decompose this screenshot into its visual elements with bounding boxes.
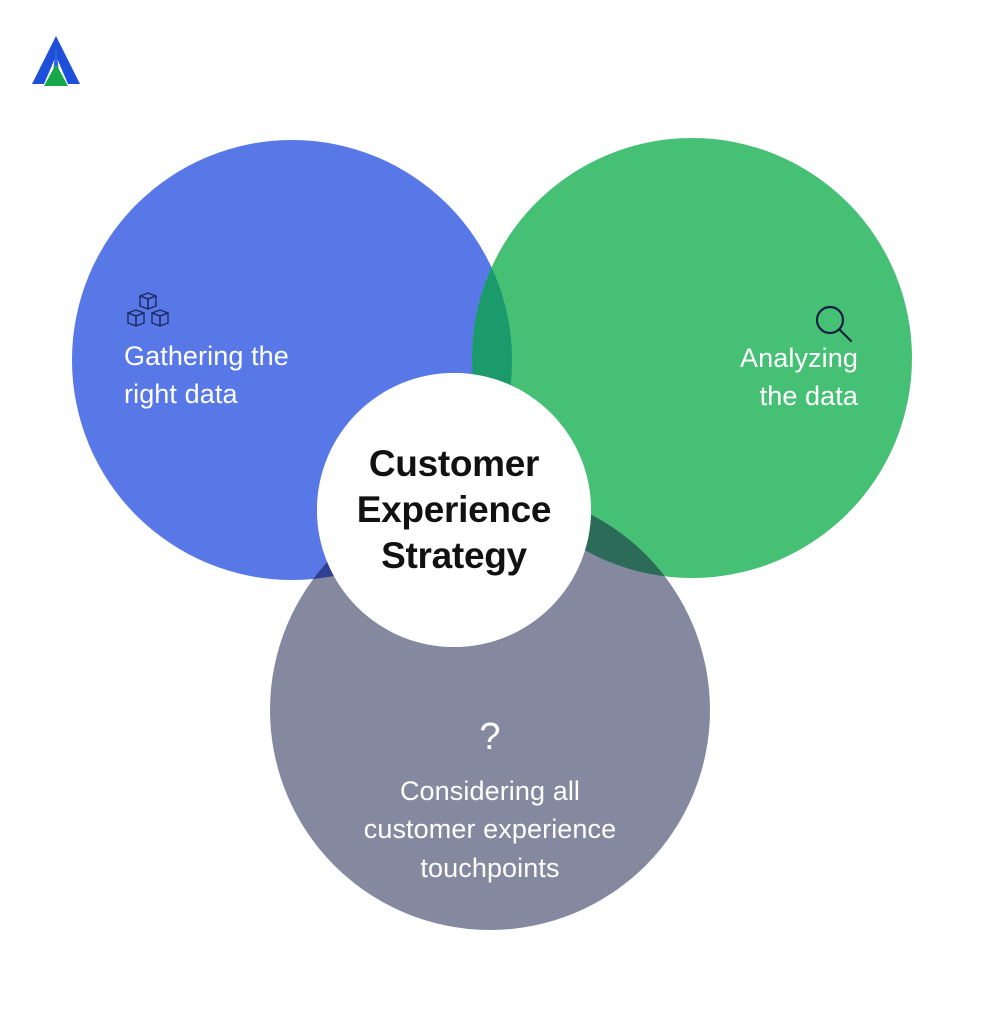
question-mark-icon: ? (410, 718, 570, 756)
venn-center-hub: Customer Experience Strategy (317, 373, 591, 647)
cubes-icon (124, 292, 172, 332)
venn-label-analyzing: Analyzing the data (636, 339, 858, 416)
center-title: Customer Experience Strategy (357, 441, 551, 580)
venn-label-touchpoints: Considering all customer experience touc… (330, 772, 650, 887)
venn-label-gathering: Gathering the right data (124, 337, 364, 414)
